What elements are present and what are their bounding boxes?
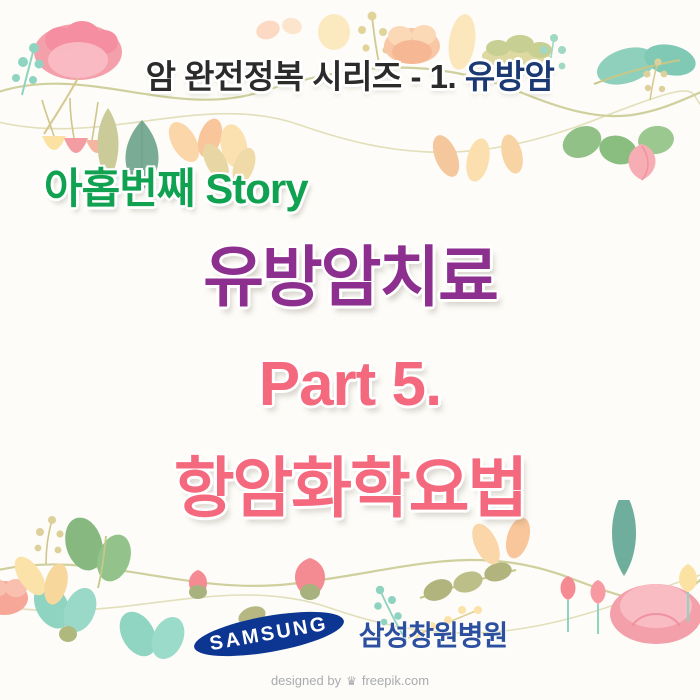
- headline-treatment: 유방암치료: [0, 244, 700, 310]
- series-title: 암 완전정복 시리즈 - 1. 유방암: [0, 60, 700, 93]
- headline-chemotherapy: 항암화학요법: [0, 455, 700, 521]
- poster-canvas: 암 완전정복 시리즈 - 1. 유방암 아홉번째 Story 유방암치료 Par…: [0, 0, 700, 700]
- headline-part-number: Part 5.: [0, 354, 700, 416]
- freepik-credit: designed by ♛ freepik.com: [0, 673, 700, 688]
- series-title-prefix: 암 완전정복 시리즈 - 1.: [146, 58, 465, 95]
- series-title-highlight: 유방암: [465, 58, 555, 95]
- story-number-label: 아홉번째 Story: [0, 168, 700, 210]
- poster-text-layer: 암 완전정복 시리즈 - 1. 유방암 아홉번째 Story 유방암치료 Par…: [0, 0, 700, 700]
- brand-row: SAMSUNG 삼성창원병원: [0, 608, 700, 660]
- crown-icon: ♛: [346, 675, 357, 687]
- credit-site-label: freepik.com: [362, 673, 429, 688]
- hospital-name: 삼성창원병원: [359, 614, 508, 654]
- credit-prefix-label: designed by: [271, 673, 341, 688]
- samsung-logo: SAMSUNG: [193, 612, 345, 656]
